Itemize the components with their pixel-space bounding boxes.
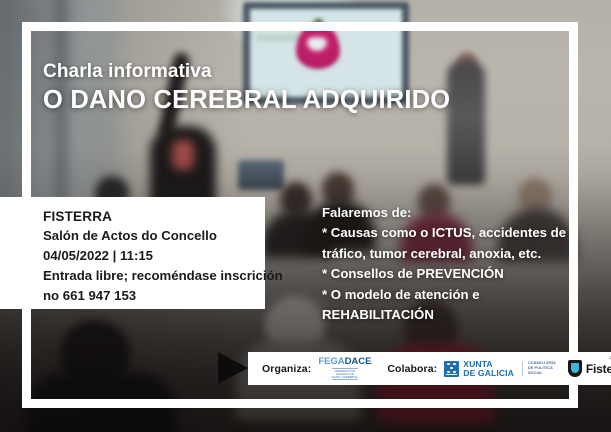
ribbon-arrow-icon <box>218 352 248 384</box>
event-venue-city: FISTERRA <box>43 209 249 226</box>
topics-lead: Falaremos de: <box>322 203 580 223</box>
fegadace-sub-line3: DANO CEREBRAL <box>332 375 359 379</box>
xunta-wordmark: XUNTA DE GALICIA <box>463 360 514 378</box>
headline-block: Charla informativa O DANO CEREBRAL ADQUI… <box>43 62 450 115</box>
page-title: O DANO CEREBRAL ADQUIRIDO <box>43 85 450 115</box>
fegadace-word-a: FEGA <box>318 356 344 367</box>
fegadace-subtitle: FEDERACIÓN GALEGA DE DANO CEREBRAL <box>332 368 359 380</box>
xunta-crest-icon <box>444 361 459 377</box>
topic-item: * Causas como o ICTUS, accidentes de <box>322 223 580 243</box>
fisterra-name: Fisterra <box>586 362 611 376</box>
conselleria-line3: SOCIAL <box>528 371 543 375</box>
organiza-label: Organiza: <box>262 363 311 375</box>
fisterra-shield-icon <box>568 360 582 377</box>
fegadace-word-b: DACE <box>345 356 372 367</box>
headline-kicker: Charla informativa <box>43 62 450 83</box>
fegadace-logo: FEGADACE FEDERACIÓN GALEGA DE DANO CEREB… <box>318 357 371 380</box>
conselleria-line1: CONSELLERÍA <box>528 361 556 365</box>
topic-item: * Consellos de PREVENCIÓN <box>322 264 580 284</box>
conselleria-politica-social-label: CONSELLERÍA DE POLÍTICA SOCIAL <box>522 361 556 377</box>
event-datetime: 04/05/2022 | 11:15 <box>43 246 249 266</box>
conselleria-line2: DE POLÍTICA <box>528 366 553 370</box>
fisterra-wordmark: Concello de Fisterra <box>586 361 611 377</box>
topic-item: tráfico, tumor cerebral, anoxia, etc. <box>322 244 580 264</box>
topics-block: Falaremos de: * Causas como o ICTUS, acc… <box>322 203 580 326</box>
event-place: Salón de Actos do Concello <box>43 226 249 246</box>
xunta-line2: DE GALICIA <box>463 368 514 378</box>
event-entry-note-line1: Entrada libre; recoméndase inscrición <box>43 266 249 286</box>
event-info-card: FISTERRA Salón de Actos do Concello 04/0… <box>0 197 265 309</box>
concello-fisterra-logo: Concello de Fisterra <box>568 360 611 377</box>
ribbon-bar: Organiza: FEGADACE FEDERACIÓN GALEGA DE … <box>248 352 611 385</box>
footer-logo-ribbon: Organiza: FEGADACE FEDERACIÓN GALEGA DE … <box>218 352 611 385</box>
topic-item: * O modelo de atención e REHABILITACIÓN <box>322 285 580 326</box>
colabora-label: Colabora: <box>387 363 437 375</box>
xunta-de-galicia-logo: XUNTA DE GALICIA <box>444 360 514 378</box>
event-phone-line: no 661 947 153 <box>43 286 249 306</box>
poster-root: Charla informativa O DANO CEREBRAL ADQUI… <box>0 0 611 432</box>
fegadace-wordmark: FEGADACE <box>318 357 371 367</box>
